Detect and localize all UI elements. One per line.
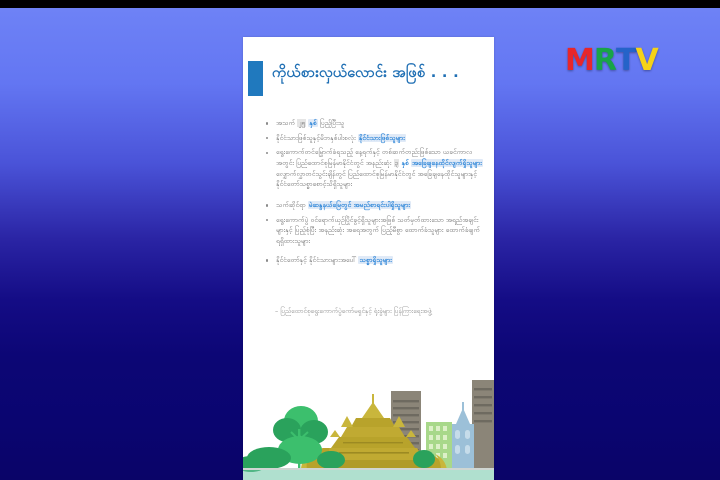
blue-colonial-tower — [452, 402, 474, 470]
bullet-item: နိုင်ငံသားဖြစ်သူနှင့်မိဘနှစ်ပါးစလုံး နို… — [264, 133, 486, 144]
bullet-item: အသက် ၂၅ နှစ် ပြည့်ပြီးသူ — [264, 118, 486, 129]
highlighted-text: မဲဆန္ဒနယ်မြေတွင် အမည်စာရင်းပါရှိသူများ — [308, 201, 411, 209]
boxed-number: ၂၅ — [297, 119, 306, 127]
bullet-list: အသက် ၂၅ နှစ် ပြည့်ပြီးသူနိုင်ငံသားဖြစ်သူ… — [264, 118, 486, 269]
mrtv-logo-letter-v: V — [635, 46, 657, 76]
mrtv-logo-letter-m: M — [565, 46, 594, 76]
bullet-text: ရွေးကောက်တင်မြှောက်ခံရသည့် နေ့ရက်နှင့် တ… — [276, 148, 443, 156]
highlighted-text: နှစ် — [308, 119, 317, 127]
mrtv-logo-letter-r: R — [594, 46, 616, 76]
bullet-text: သက်ဆိုင်ရာ — [276, 201, 308, 209]
bullet-item: ရွေးကောက်တင်မြှောက်ခံရသည့် နေ့ရက်နှင့် တ… — [264, 147, 486, 190]
bullet-text: အသက် — [276, 119, 297, 127]
highlighted-text: နှစ် — [402, 159, 409, 167]
bullet-text: နိုင်ငံသားဖြစ်သူနှင့်မိဘနှစ်ပါးစလုံး — [276, 134, 358, 142]
highlighted-text: နိုင်ငံသားဖြစ်သူများ — [358, 134, 406, 142]
bullet-text: ရွေးကောက်ပွဲ ဝင်ရောက်ယှဉ်ပြိုင်ခွင့်ရှိသ… — [276, 216, 446, 224]
highlighted-text: သစ္စာရှိသူများ — [358, 256, 392, 264]
mrtv-logo-letter-t: T — [616, 46, 635, 76]
bullet-text: နိုင်ငံတော်နှင့် နိုင်ငံသားများအပေါ် — [276, 256, 358, 264]
bullet-text: ပြည့်ပြီးသူ — [318, 119, 345, 127]
slide-content: ကိုယ်စားလှယ်လောင်း အဖြစ် . . . အသက် ၂၅ န… — [243, 37, 494, 480]
presentation-slide: ကိုယ်စားလှယ်လောင်း အဖြစ် . . . အသက် ၂၅ န… — [243, 37, 494, 480]
slide-title-row: ကိုယ်စားလှယ်လောင်း အဖြစ် . . . — [248, 61, 488, 99]
bullet-text: လျှောက်လွှာတင်သွင်းချိန်တွင် ပြည်ထောင်စု… — [276, 170, 417, 178]
myanmar-cityscape-illustration — [243, 374, 494, 480]
broadcast-frame: MRTV ကိုယ်စားလှယ်လောင်း အဖြစ် . . . အသက်… — [0, 0, 720, 480]
right-tall-building — [472, 380, 494, 470]
slide-title: ကိုယ်စားလှယ်လောင်း အဖြစ် . . . — [272, 66, 459, 82]
title-accent-bar — [248, 61, 263, 96]
bullet-item: ရွေးကောက်ပွဲ ဝင်ရောက်ယှဉ်ပြိုင်ခွင့်ရှိသ… — [264, 215, 486, 247]
bullet-item: နိုင်ငံတော်နှင့် နိုင်ငံသားများအပေါ် သစ္… — [264, 255, 486, 266]
slide-attribution: – ပြည်ထောင်စုရွေးကောက်ပွဲကော်မရှင်နှင့် … — [275, 307, 484, 317]
letterbox-bar-top — [0, 0, 720, 8]
mrtv-channel-logo: MRTV — [565, 46, 658, 76]
highlighted-text: အခြေချနေထိုင်လျက်ရှိသူများ — [411, 159, 483, 167]
bullet-item: သက်ဆိုင်ရာ မဲဆန္ဒနယ်မြေတွင် အမည်စာရင်းပါ… — [264, 200, 486, 211]
